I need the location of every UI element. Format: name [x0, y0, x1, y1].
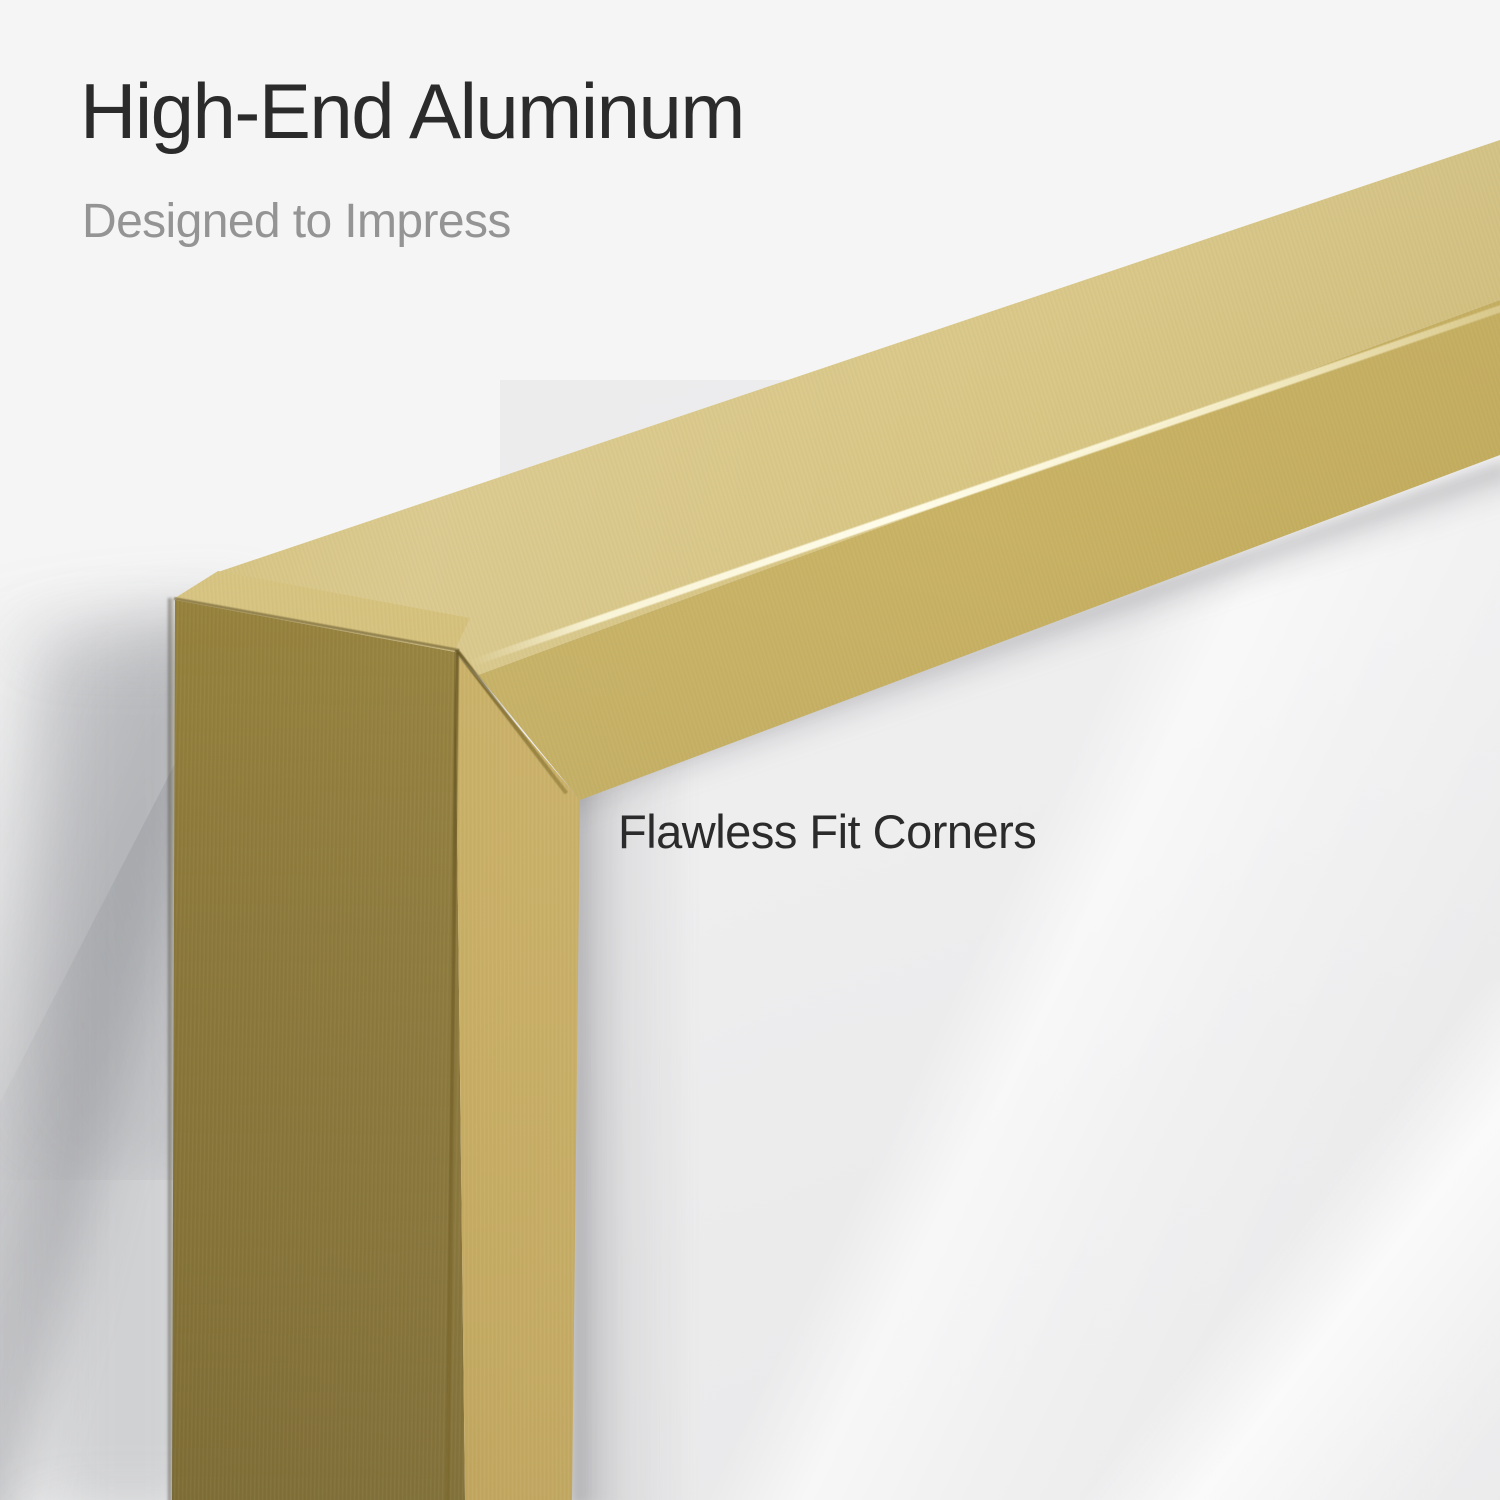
left-rail-outer-edge — [168, 598, 175, 1500]
page-subtitle: Designed to Impress — [82, 198, 511, 246]
corner-callout-label: Flawless Fit Corners — [618, 808, 1036, 855]
page-title: High-End Aluminum — [80, 72, 744, 150]
product-feature-image: High-End Aluminum Designed to Impress Fl… — [0, 0, 1500, 1500]
